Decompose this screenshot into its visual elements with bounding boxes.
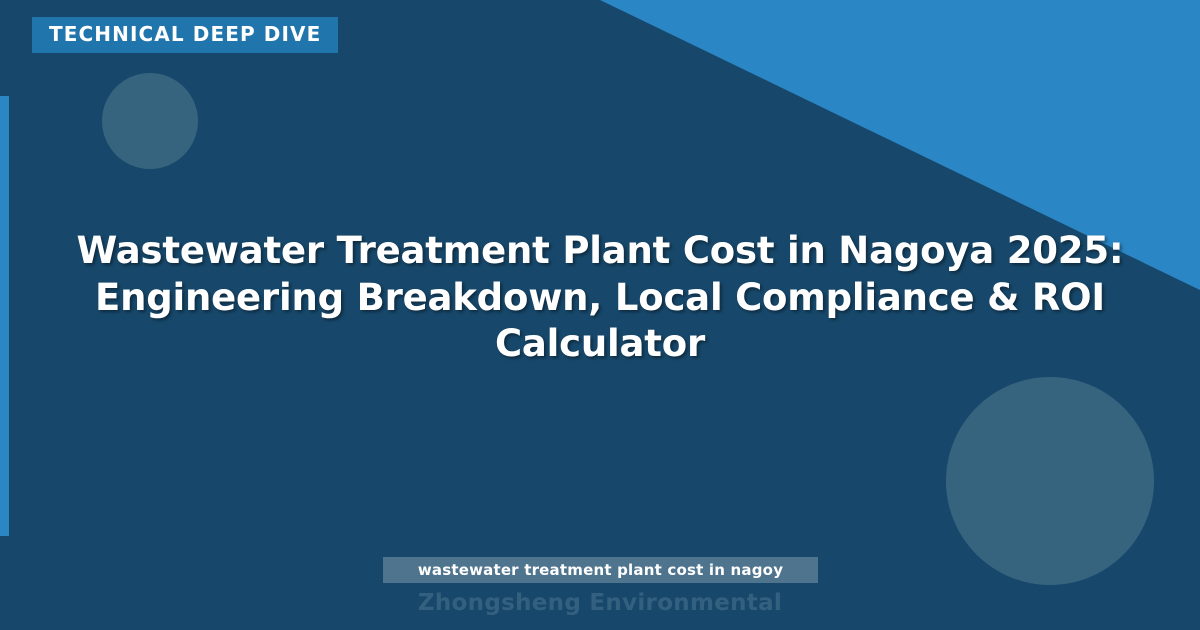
page-title: Wastewater Treatment Plant Cost in Nagoy…	[60, 228, 1140, 368]
brand-watermark: Zhongsheng Environmental	[0, 590, 1200, 616]
left-accent-bar	[0, 96, 9, 536]
circle-decoration-bottom-right	[946, 377, 1154, 585]
headline-container: Wastewater Treatment Plant Cost in Nagoy…	[60, 228, 1140, 368]
category-badge: TECHNICAL DEEP DIVE	[32, 17, 338, 53]
social-share-card: TECHNICAL DEEP DIVE Wastewater Treatment…	[0, 0, 1200, 630]
circle-decoration-top-left	[102, 73, 198, 169]
keyword-tag: wastewater treatment plant cost in nagoy	[383, 557, 818, 583]
